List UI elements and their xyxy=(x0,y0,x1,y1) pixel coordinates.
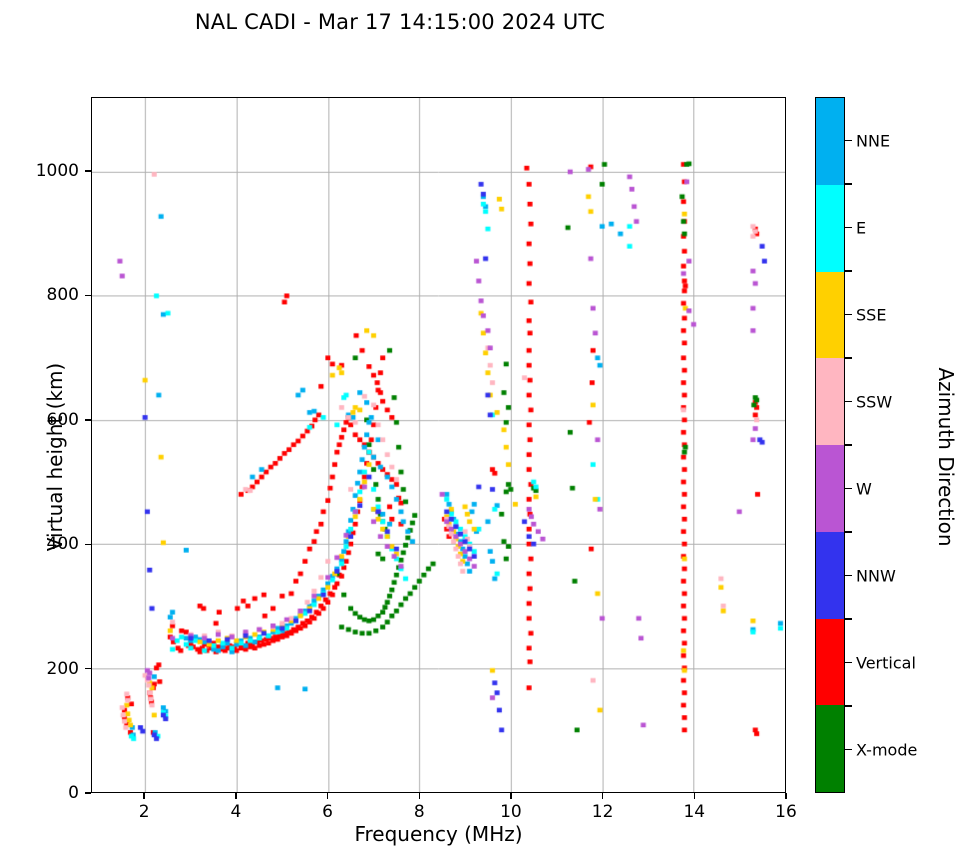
colorbar-label-nne: NNE xyxy=(856,131,890,150)
ionogram-plot xyxy=(91,97,786,793)
x-tick-mark xyxy=(510,793,511,799)
y-tick-label: 800 xyxy=(13,285,79,305)
colorbar-label-vertical: Vertical xyxy=(856,653,916,672)
x-axis-title: Frequency (MHz) xyxy=(91,822,786,846)
x-tick-mark xyxy=(235,793,236,799)
colorbar-boundary-tick xyxy=(845,618,852,619)
x-tick-label: 4 xyxy=(230,802,241,822)
x-tick-mark xyxy=(327,793,328,799)
x-tick-label: 12 xyxy=(592,802,614,822)
y-tick-label: 600 xyxy=(13,410,79,430)
y-tick-label: 400 xyxy=(13,534,79,554)
colorbar-boundary-tick xyxy=(845,183,852,184)
colorbar-boundary-tick xyxy=(845,270,852,271)
colorbar-segment-vertical[interactable] xyxy=(816,619,844,706)
x-tick-label: 14 xyxy=(683,802,705,822)
colorbar-segment-ssw[interactable] xyxy=(816,358,844,445)
y-tick-mark xyxy=(85,668,91,669)
x-tick-mark xyxy=(694,793,695,799)
colorbar-segment-nnw[interactable] xyxy=(816,532,844,619)
x-tick-mark xyxy=(602,793,603,799)
colorbar-segment-x-mode[interactable] xyxy=(816,705,844,792)
colorbar-label-x-mode: X-mode xyxy=(856,740,917,759)
colorbar-tick-mark xyxy=(845,227,852,228)
y-axis-title: Virtual height (km) xyxy=(43,307,67,607)
y-tick-mark xyxy=(85,170,91,171)
page-title: NAL CADI - Mar 17 14:15:00 2024 UTC xyxy=(0,10,800,34)
y-tick-mark xyxy=(85,295,91,296)
azimuth-colorbar[interactable] xyxy=(815,97,845,793)
y-tick-mark xyxy=(85,419,91,420)
colorbar-segment-nne[interactable] xyxy=(816,98,844,185)
colorbar-tick-mark xyxy=(845,401,852,402)
colorbar-label-sse: SSE xyxy=(856,305,886,324)
colorbar-tick-mark xyxy=(845,749,852,750)
x-tick-mark xyxy=(143,793,144,799)
x-tick-label: 6 xyxy=(322,802,333,822)
colorbar-label-w: W xyxy=(856,479,872,498)
colorbar-boundary-tick xyxy=(845,444,852,445)
colorbar-tick-mark xyxy=(845,488,852,489)
colorbar-segment-w[interactable] xyxy=(816,445,844,532)
colorbar-label-nnw: NNW xyxy=(856,566,896,585)
x-tick-mark xyxy=(785,793,786,799)
colorbar-tick-mark xyxy=(845,140,852,141)
y-tick-label: 1000 xyxy=(13,161,79,181)
colorbar-label-e: E xyxy=(856,218,866,237)
colorbar-tick-mark xyxy=(845,662,852,663)
y-tick-mark xyxy=(85,792,91,793)
x-tick-label: 10 xyxy=(500,802,522,822)
x-tick-label: 16 xyxy=(775,802,797,822)
x-tick-label: 2 xyxy=(139,802,150,822)
colorbar-segment-e[interactable] xyxy=(816,185,844,272)
x-tick-mark xyxy=(419,793,420,799)
scatter-canvas xyxy=(92,98,785,792)
colorbar-segment-sse[interactable] xyxy=(816,272,844,359)
x-tick-label: 8 xyxy=(414,802,425,822)
y-tick-label: 200 xyxy=(13,659,79,679)
colorbar-tick-mark xyxy=(845,575,852,576)
colorbar-boundary-tick xyxy=(845,357,852,358)
y-tick-mark xyxy=(85,544,91,545)
colorbar-label-ssw: SSW xyxy=(856,392,892,411)
y-tick-label: 0 xyxy=(13,783,79,803)
colorbar-title: Azimuth Direction xyxy=(934,307,958,607)
colorbar-tick-mark xyxy=(845,314,852,315)
colorbar-boundary-tick xyxy=(845,705,852,706)
colorbar-boundary-tick xyxy=(845,531,852,532)
